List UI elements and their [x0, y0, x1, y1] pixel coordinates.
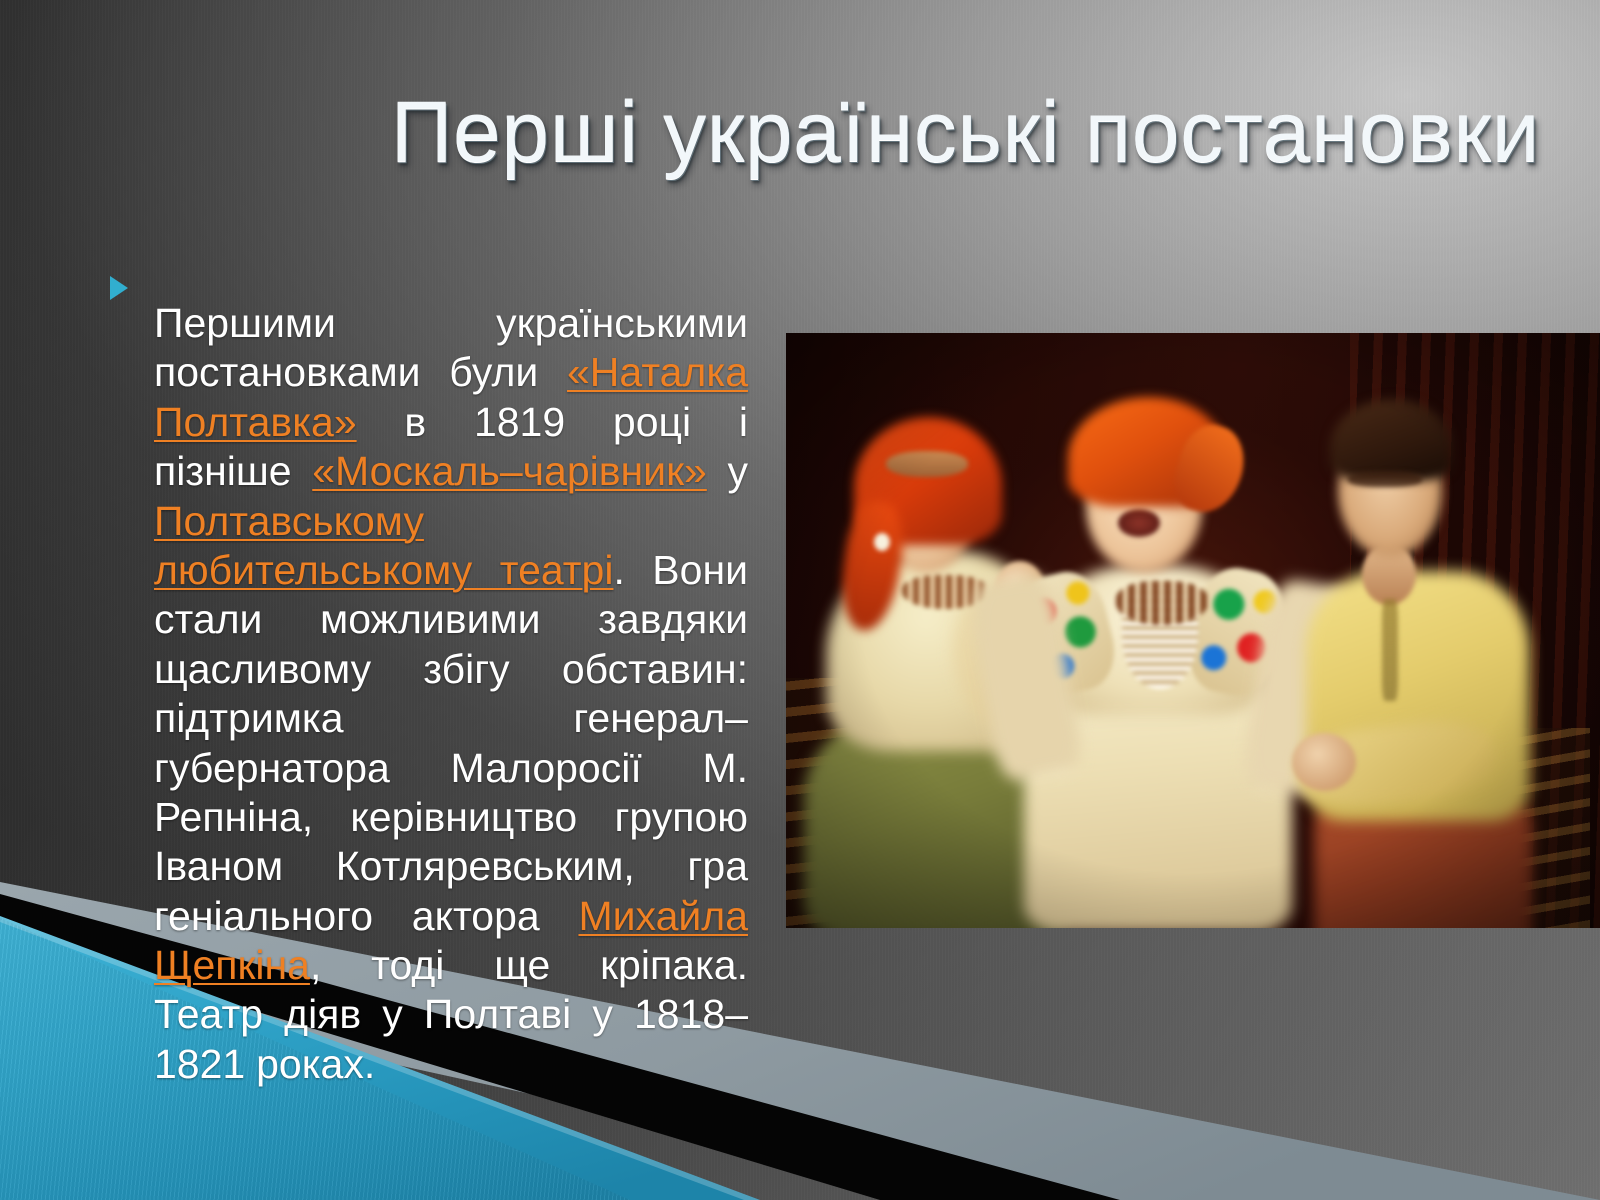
hairline-left — [886, 451, 968, 477]
page-title: Перші українські постановки — [391, 87, 1540, 177]
earring-left — [874, 533, 890, 551]
body-paragraph: Першими українськими постановками були «… — [154, 299, 748, 1089]
shirt-placket-right — [1382, 599, 1398, 701]
slide-title-placeholder: Перші українські постановки — [60, 72, 1540, 192]
body-hyperlink[interactable]: Полтавському любительському театрі — [154, 498, 613, 593]
content-placeholder: Першими українськими постановками були «… — [108, 258, 748, 1130]
body-hyperlink[interactable]: «Москаль–чарівник» — [312, 448, 707, 494]
presentation-slide: Перші українські постановки Першими укра… — [0, 0, 1600, 1200]
necklace-center — [1116, 581, 1208, 625]
body-run: . Вони стали можливими завдяки щасливому… — [154, 547, 748, 939]
mouth-center — [1118, 509, 1160, 537]
brow-right — [1348, 471, 1422, 487]
stage-photo — [786, 333, 1600, 928]
hand-right — [1292, 733, 1356, 791]
body-run: у — [707, 448, 748, 494]
triangle-right-bullet-icon — [108, 274, 130, 302]
